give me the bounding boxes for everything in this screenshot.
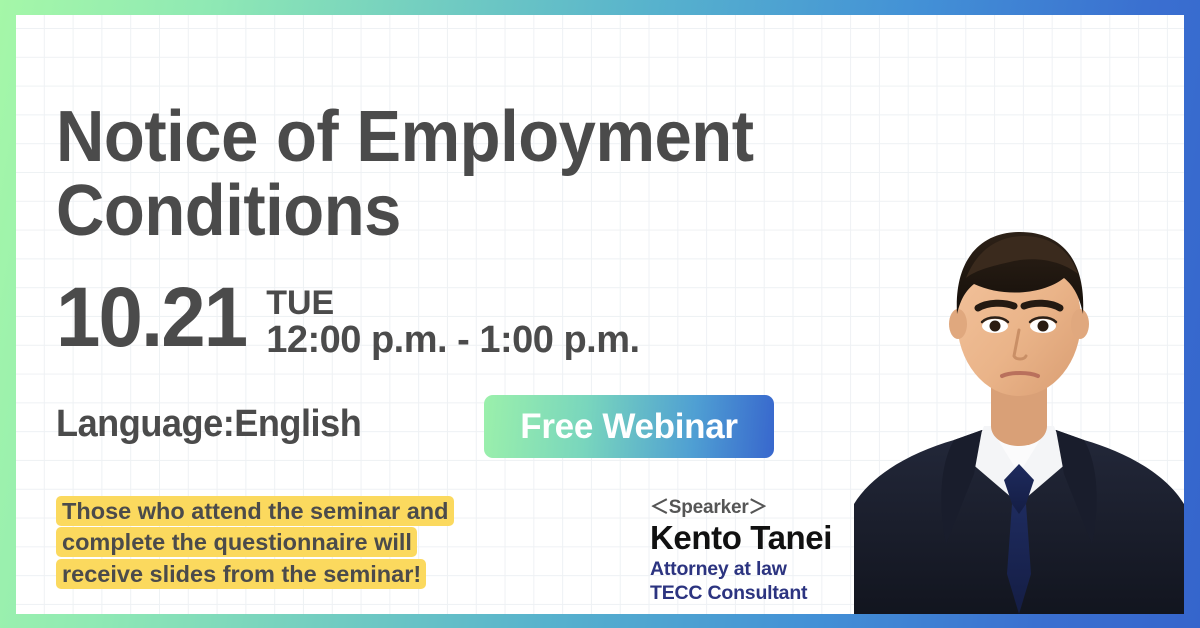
speaker-portrait-photo <box>854 174 1184 614</box>
schedule-block: 10.21 TUE 12:00 p.m. - 1:00 p.m. <box>56 278 640 361</box>
grid-paper-background: Notice of Employment Conditions 10.21 TU… <box>16 15 1184 614</box>
event-date: 10.21 <box>56 278 246 358</box>
schedule-detail: TUE 12:00 p.m. - 1:00 p.m. <box>266 278 639 361</box>
note-line: Those who attend the seminar and <box>56 496 576 527</box>
note-line-text: Those who attend the seminar and <box>56 496 454 526</box>
language-label: Language:English <box>56 403 361 446</box>
note-line-text: complete the questionnaire will <box>56 527 417 557</box>
event-weekday: TUE <box>266 286 639 320</box>
webinar-banner: Notice of Employment Conditions 10.21 TU… <box>0 0 1200 628</box>
page-title: Notice of Employment Conditions <box>56 101 893 248</box>
event-time-range: 12:00 p.m. - 1:00 p.m. <box>266 320 639 361</box>
speaker-name: Kento Tanei <box>650 520 880 557</box>
free-webinar-label: Free Webinar <box>520 407 738 447</box>
free-webinar-badge[interactable]: Free Webinar <box>484 395 774 458</box>
note-line: receive slides from the seminar! <box>56 559 576 590</box>
note-line-text: receive slides from the seminar! <box>56 559 426 589</box>
speaker-info: ＜Spearker＞ Kento Tanei Attorney at law T… <box>650 496 880 605</box>
speaker-role-attorney: Attorney at law <box>650 557 880 581</box>
note-line: complete the questionnaire will <box>56 527 576 558</box>
speaker-caption: ＜Spearker＞ <box>650 496 880 520</box>
speaker-role-consultant: TECC Consultant <box>650 581 880 605</box>
seminar-note: Those who attend the seminar and complet… <box>56 496 576 590</box>
